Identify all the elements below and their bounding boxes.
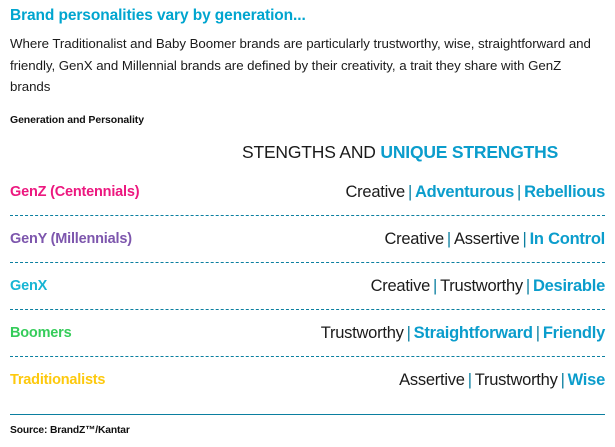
strength: Trustworthy <box>440 277 523 295</box>
generation-label: GenZ (Centennials) <box>10 169 242 215</box>
strengths-list: Trustworthy|Straightforward|Friendly <box>242 310 605 356</box>
strengths-list: Creative|Trustworthy|Desirable <box>242 263 605 309</box>
strength-separator: | <box>404 324 414 342</box>
strength: Assertive <box>399 371 465 389</box>
strength: Trustworthy <box>321 324 404 342</box>
strength-separator: | <box>430 277 440 295</box>
strengths-list: Creative|Adventurous|Rebellious <box>242 169 605 215</box>
strengths-header-accent: UNIQUE STRENGTHS <box>380 142 558 162</box>
table-header-spacer <box>10 135 242 169</box>
strength-separator: | <box>523 277 533 295</box>
strength-separator: | <box>533 324 543 342</box>
strength-separator: | <box>514 183 524 201</box>
footer: Source: BrandZ™/Kantar <box>10 414 605 436</box>
table-caption: Generation and Personality <box>10 98 605 126</box>
strength: Trustworthy <box>475 371 558 389</box>
strengths-header-plain: STENGTHS AND <box>242 142 380 162</box>
strength-separator: | <box>405 183 415 201</box>
unique-strength: In Control <box>530 230 605 248</box>
table-row: GenXCreative|Trustworthy|Desirable <box>10 263 605 309</box>
generation-personality-table: STENGTHS AND UNIQUE STRENGTHSGenZ (Cente… <box>10 135 605 403</box>
table-row: TraditionalistsAssertive|Trustworthy|Wis… <box>10 357 605 403</box>
table-row: GenZ (Centennials)Creative|Adventurous|R… <box>10 169 605 215</box>
strength: Creative <box>346 183 405 201</box>
strength: Creative <box>384 230 443 248</box>
unique-strength: Desirable <box>533 277 605 295</box>
table-row: BoomersTrustworthy|Straightforward|Frien… <box>10 310 605 356</box>
strength-separator: | <box>558 371 568 389</box>
intro-paragraph: Where Traditionalist and Baby Boomer bra… <box>10 25 602 98</box>
strengths-list: Creative|Assertive|In Control <box>242 216 605 262</box>
source-note: Source: BrandZ™/Kantar <box>10 415 605 436</box>
unique-strength: Adventurous <box>415 183 514 201</box>
table-header-row: STENGTHS AND UNIQUE STRENGTHS <box>10 135 605 169</box>
strength-separator: | <box>444 230 454 248</box>
infographic-panel: Brand personalities vary by generation..… <box>0 0 615 447</box>
strength-separator: | <box>465 371 475 389</box>
page-title: Brand personalities vary by generation..… <box>10 0 605 25</box>
generation-label: Traditionalists <box>10 357 242 403</box>
generation-label: Boomers <box>10 310 242 356</box>
strengths-list: Assertive|Trustworthy|Wise <box>242 357 605 403</box>
strengths-column-header: STENGTHS AND UNIQUE STRENGTHS <box>242 135 605 169</box>
strength: Creative <box>371 277 430 295</box>
generation-label: GenX <box>10 263 242 309</box>
unique-strength: Friendly <box>543 324 605 342</box>
unique-strength: Rebellious <box>524 183 605 201</box>
strength-separator: | <box>520 230 530 248</box>
table-row: GenY (Millennials)Creative|Assertive|In … <box>10 216 605 262</box>
generation-label: GenY (Millennials) <box>10 216 242 262</box>
unique-strength: Wise <box>568 371 605 389</box>
unique-strength: Straightforward <box>414 324 533 342</box>
strength: Assertive <box>454 230 520 248</box>
